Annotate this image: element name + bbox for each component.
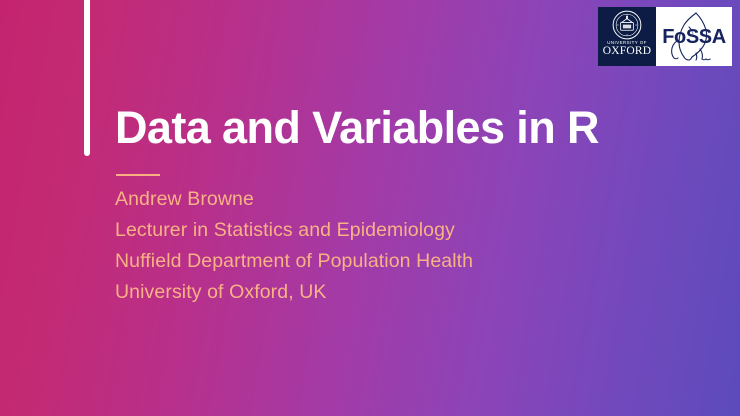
presenter-institution: University of Oxford, UK [115, 277, 635, 308]
oxford-logo: UNIVERSITY OF OXFORD [598, 7, 656, 66]
presenter-name: Andrew Browne [115, 184, 635, 215]
title-slide: Data and Variables in R Andrew Browne Le… [0, 0, 740, 416]
accent-bar [84, 0, 90, 156]
oxford-wordmark: OXFORD [603, 46, 652, 58]
title-divider [116, 174, 160, 176]
fossa-wordmark: FoSSA [660, 27, 728, 47]
presenter-department: Nuffield Department of Population Health [115, 246, 635, 277]
oxford-crest-icon [612, 10, 642, 40]
logo-strip: UNIVERSITY OF OXFORD [598, 7, 732, 66]
fossa-logo: FoSSA [656, 7, 732, 66]
page-title: Data and Variables in R [115, 104, 599, 151]
presenter-role: Lecturer in Statistics and Epidemiology [115, 215, 635, 246]
presenter-details: Andrew Browne Lecturer in Statistics and… [115, 184, 635, 308]
